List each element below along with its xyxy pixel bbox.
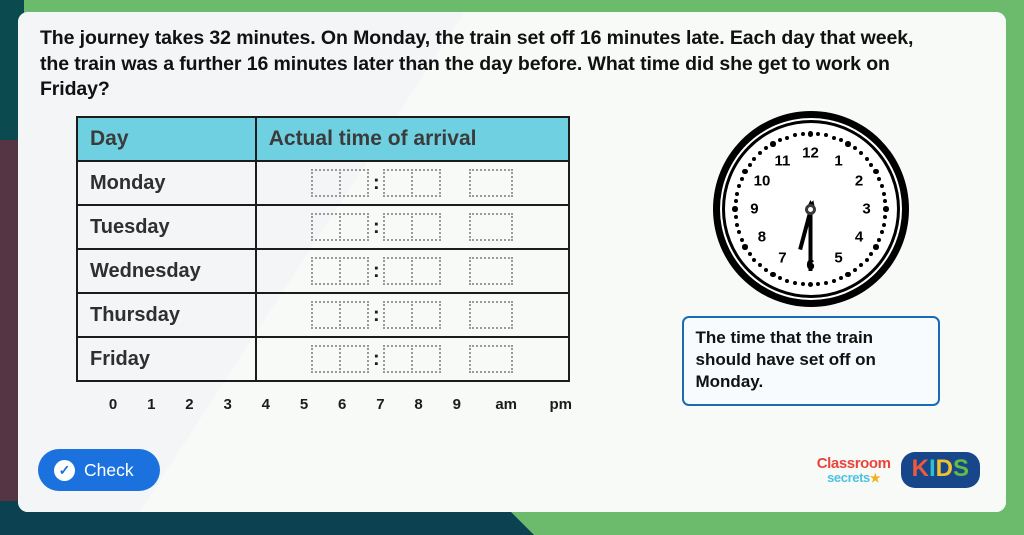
time-colon: : xyxy=(369,173,383,193)
clock-tick xyxy=(808,282,814,288)
table-body: Monday : xyxy=(77,161,569,381)
check-button-label: Check xyxy=(84,460,134,481)
clock-tick xyxy=(869,163,873,167)
clock-tick xyxy=(880,230,884,234)
time-entry-cell-wednesday: : xyxy=(256,249,569,293)
dropzone-minute-ones-wednesday[interactable] xyxy=(411,257,441,285)
logo-secrets-text: secrets★ xyxy=(817,471,891,484)
clock-tick xyxy=(752,258,756,262)
clock-area: 121234567891011 The time that the train … xyxy=(585,116,984,413)
logo-classroom-text: Classroom xyxy=(817,456,891,471)
clock-tick xyxy=(734,199,738,203)
minute-drop-group xyxy=(383,345,441,373)
clock-numeral-11: 11 xyxy=(775,153,791,168)
column-header-day: Day xyxy=(77,117,256,161)
clock-tick xyxy=(845,141,851,147)
clock-tick xyxy=(785,279,789,283)
day-label-friday: Friday xyxy=(77,337,256,381)
clock-tick xyxy=(873,169,879,175)
clock-numeral-1: 1 xyxy=(834,153,842,168)
clock-tick xyxy=(859,151,863,155)
clock-tick xyxy=(740,238,744,242)
time-colon: : xyxy=(369,349,383,369)
dropzone-hour-ones-monday[interactable] xyxy=(339,169,369,197)
clock-tick xyxy=(853,268,857,272)
kids-logo-s: S xyxy=(953,455,969,482)
time-colon: : xyxy=(369,261,383,281)
clock-tick xyxy=(877,238,881,242)
clock-tick xyxy=(883,206,889,212)
dropzone-minute-ones-tuesday[interactable] xyxy=(411,213,441,241)
table-row: Thursday : xyxy=(77,293,569,337)
kids-logo-d: D xyxy=(936,455,953,482)
clock-tick xyxy=(793,281,797,285)
question-text: The journey takes 32 minutes. On Monday,… xyxy=(40,26,940,103)
time-colon: : xyxy=(369,217,383,237)
activity-body: Day Actual time of arrival Monday xyxy=(40,116,984,413)
clock-tick xyxy=(859,263,863,267)
minute-drop-group xyxy=(383,213,441,241)
clock-tick xyxy=(816,282,820,286)
token-digit-3[interactable]: 3 xyxy=(209,396,247,413)
dropzone-meridiem-friday[interactable] xyxy=(469,345,513,373)
column-header-time: Actual time of arrival xyxy=(256,117,569,161)
clock-tick xyxy=(770,141,776,147)
token-digit-0[interactable]: 0 xyxy=(94,396,132,413)
clock-tick xyxy=(758,263,762,267)
hour-drop-group xyxy=(311,301,369,329)
clock-tick xyxy=(853,146,857,150)
token-digit-1[interactable]: 1 xyxy=(132,396,170,413)
logo-star-icon: ★ xyxy=(870,471,880,485)
dropzone-hour-tens-wednesday[interactable] xyxy=(311,257,341,285)
clock-tick xyxy=(801,132,805,136)
dropzone-meridiem-tuesday[interactable] xyxy=(469,213,513,241)
token-digit-9[interactable]: 9 xyxy=(438,396,476,413)
clock-tick xyxy=(758,151,762,155)
table-header-row: Day Actual time of arrival xyxy=(77,117,569,161)
day-label-thursday: Thursday xyxy=(77,293,256,337)
dropzone-hour-ones-wednesday[interactable] xyxy=(339,257,369,285)
clock-tick xyxy=(737,230,741,234)
clock-tick xyxy=(778,276,782,280)
day-label-tuesday: Tuesday xyxy=(77,205,256,249)
token-digit-4[interactable]: 4 xyxy=(247,396,285,413)
analogue-clock: 121234567891011 xyxy=(722,120,900,298)
logo-secrets-word: secrets xyxy=(827,470,870,485)
token-am[interactable]: am xyxy=(482,396,531,413)
clock-tick xyxy=(832,136,836,140)
clock-tick xyxy=(785,136,789,140)
dropzone-minute-ones-friday[interactable] xyxy=(411,345,441,373)
hour-drop-group xyxy=(311,345,369,373)
dropzone-minute-tens-tuesday[interactable] xyxy=(383,213,413,241)
hour-drop-group xyxy=(311,169,369,197)
clock-tick xyxy=(801,282,805,286)
clock-tick xyxy=(732,206,738,212)
clock-tick xyxy=(740,177,744,181)
kids-logo-i: I xyxy=(929,455,936,482)
dropzone-minute-ones-thursday[interactable] xyxy=(411,301,441,329)
clock-numeral-4: 4 xyxy=(855,230,863,245)
dropzone-hour-ones-thursday[interactable] xyxy=(339,301,369,329)
activity-screen: The journey takes 32 minutes. On Monday,… xyxy=(0,0,1024,535)
dropzone-meridiem-thursday[interactable] xyxy=(469,301,513,329)
dropzone-hour-tens-monday[interactable] xyxy=(311,169,341,197)
minute-drop-group xyxy=(383,257,441,285)
token-digit-8[interactable]: 8 xyxy=(400,396,438,413)
token-digit-5[interactable]: 5 xyxy=(285,396,323,413)
minute-drop-group xyxy=(383,169,441,197)
clock-tick xyxy=(877,177,881,181)
time-entry-cell-friday: : xyxy=(256,337,569,381)
clock-tick xyxy=(737,184,741,188)
branding-logos: Classroom secrets★ KIDS xyxy=(817,452,980,488)
classroom-secrets-logo: Classroom secrets★ xyxy=(817,456,891,484)
clock-numeral-12: 12 xyxy=(802,146,819,161)
dropzone-minute-ones-monday[interactable] xyxy=(411,169,441,197)
clock-tick xyxy=(869,252,873,256)
table-row: Tuesday : xyxy=(77,205,569,249)
clock-numeral-9: 9 xyxy=(750,202,758,217)
answer-area: Day Actual time of arrival Monday xyxy=(40,116,585,413)
token-digit-2[interactable]: 2 xyxy=(170,396,208,413)
time-entry-cell-tuesday: : xyxy=(256,205,569,249)
dropzone-meridiem-monday[interactable] xyxy=(469,169,513,197)
dropzone-hour-tens-friday[interactable] xyxy=(311,345,341,373)
minute-drop-group xyxy=(383,301,441,329)
clock-tick xyxy=(764,146,768,150)
clock-numeral-8: 8 xyxy=(758,230,766,245)
table-row: Monday : xyxy=(77,161,569,205)
dropzone-minute-tens-thursday[interactable] xyxy=(383,301,413,329)
clock-tick xyxy=(748,163,752,167)
time-colon: : xyxy=(369,305,383,325)
clock-tick xyxy=(778,138,782,142)
clock-tick xyxy=(764,268,768,272)
clock-centre-pivot xyxy=(805,204,816,215)
footer-bar: ✓ Check Classroom secrets★ KIDS xyxy=(18,442,1006,498)
clock-tick xyxy=(882,223,886,227)
clock-tick xyxy=(880,184,884,188)
day-label-monday: Monday xyxy=(77,161,256,205)
clock-callout-label: The time that the train should have set … xyxy=(682,316,940,406)
clock-numeral-10: 10 xyxy=(754,174,771,189)
clock-tick xyxy=(824,281,828,285)
day-label-wednesday: Wednesday xyxy=(77,249,256,293)
clock-tick xyxy=(735,223,739,227)
clock-tick xyxy=(742,169,748,175)
clock-tick xyxy=(816,132,820,136)
token-palette: 0 1 2 3 4 5 6 7 8 9 am pm xyxy=(76,396,585,413)
clock-tick xyxy=(839,138,843,142)
token-digit-7[interactable]: 7 xyxy=(361,396,399,413)
hour-drop-group xyxy=(311,257,369,285)
clock-tick xyxy=(748,252,752,256)
check-button[interactable]: ✓ Check xyxy=(38,449,160,491)
hour-drop-group xyxy=(311,213,369,241)
clock-tick xyxy=(742,244,748,250)
check-circle-icon: ✓ xyxy=(54,460,75,481)
clock-tick xyxy=(770,272,776,278)
answers-table: Day Actual time of arrival Monday xyxy=(76,116,570,382)
clock-tick xyxy=(883,215,887,219)
clock-tick xyxy=(839,276,843,280)
dropzone-hour-tens-thursday[interactable] xyxy=(311,301,341,329)
clock-tick xyxy=(735,192,739,196)
dropzone-hour-tens-tuesday[interactable] xyxy=(311,213,341,241)
dropzone-minute-tens-monday[interactable] xyxy=(383,169,413,197)
clock-tick xyxy=(808,131,814,137)
clock-tick xyxy=(832,279,836,283)
kids-logo-k: K xyxy=(912,455,929,482)
token-pm[interactable]: pm xyxy=(536,396,585,413)
clock-tick xyxy=(865,157,869,161)
table-row: Friday : xyxy=(77,337,569,381)
time-entry-cell-monday: : xyxy=(256,161,569,205)
clock-numeral-2: 2 xyxy=(855,174,863,189)
clock-numeral-3: 3 xyxy=(862,202,870,217)
clock-tick xyxy=(865,258,869,262)
dropzone-minute-tens-wednesday[interactable] xyxy=(383,257,413,285)
kids-logo: KIDS xyxy=(901,452,980,488)
clock-minute-hand xyxy=(809,209,813,271)
clock-tick xyxy=(845,272,851,278)
time-entry-cell-thursday: : xyxy=(256,293,569,337)
clock-numeral-5: 5 xyxy=(834,250,842,265)
clock-tick xyxy=(883,199,887,203)
dropzone-meridiem-wednesday[interactable] xyxy=(469,257,513,285)
content-card: The journey takes 32 minutes. On Monday,… xyxy=(18,12,1006,512)
token-digit-6[interactable]: 6 xyxy=(323,396,361,413)
dropzone-hour-ones-friday[interactable] xyxy=(339,345,369,373)
clock-tick xyxy=(824,133,828,137)
clock-tick xyxy=(752,157,756,161)
clock-numeral-7: 7 xyxy=(778,250,786,265)
clock-tick xyxy=(734,215,738,219)
dropzone-hour-ones-tuesday[interactable] xyxy=(339,213,369,241)
table-row: Wednesday : xyxy=(77,249,569,293)
dropzone-minute-tens-friday[interactable] xyxy=(383,345,413,373)
clock-tick xyxy=(793,133,797,137)
clock-tick xyxy=(873,244,879,250)
clock-tick xyxy=(882,192,886,196)
